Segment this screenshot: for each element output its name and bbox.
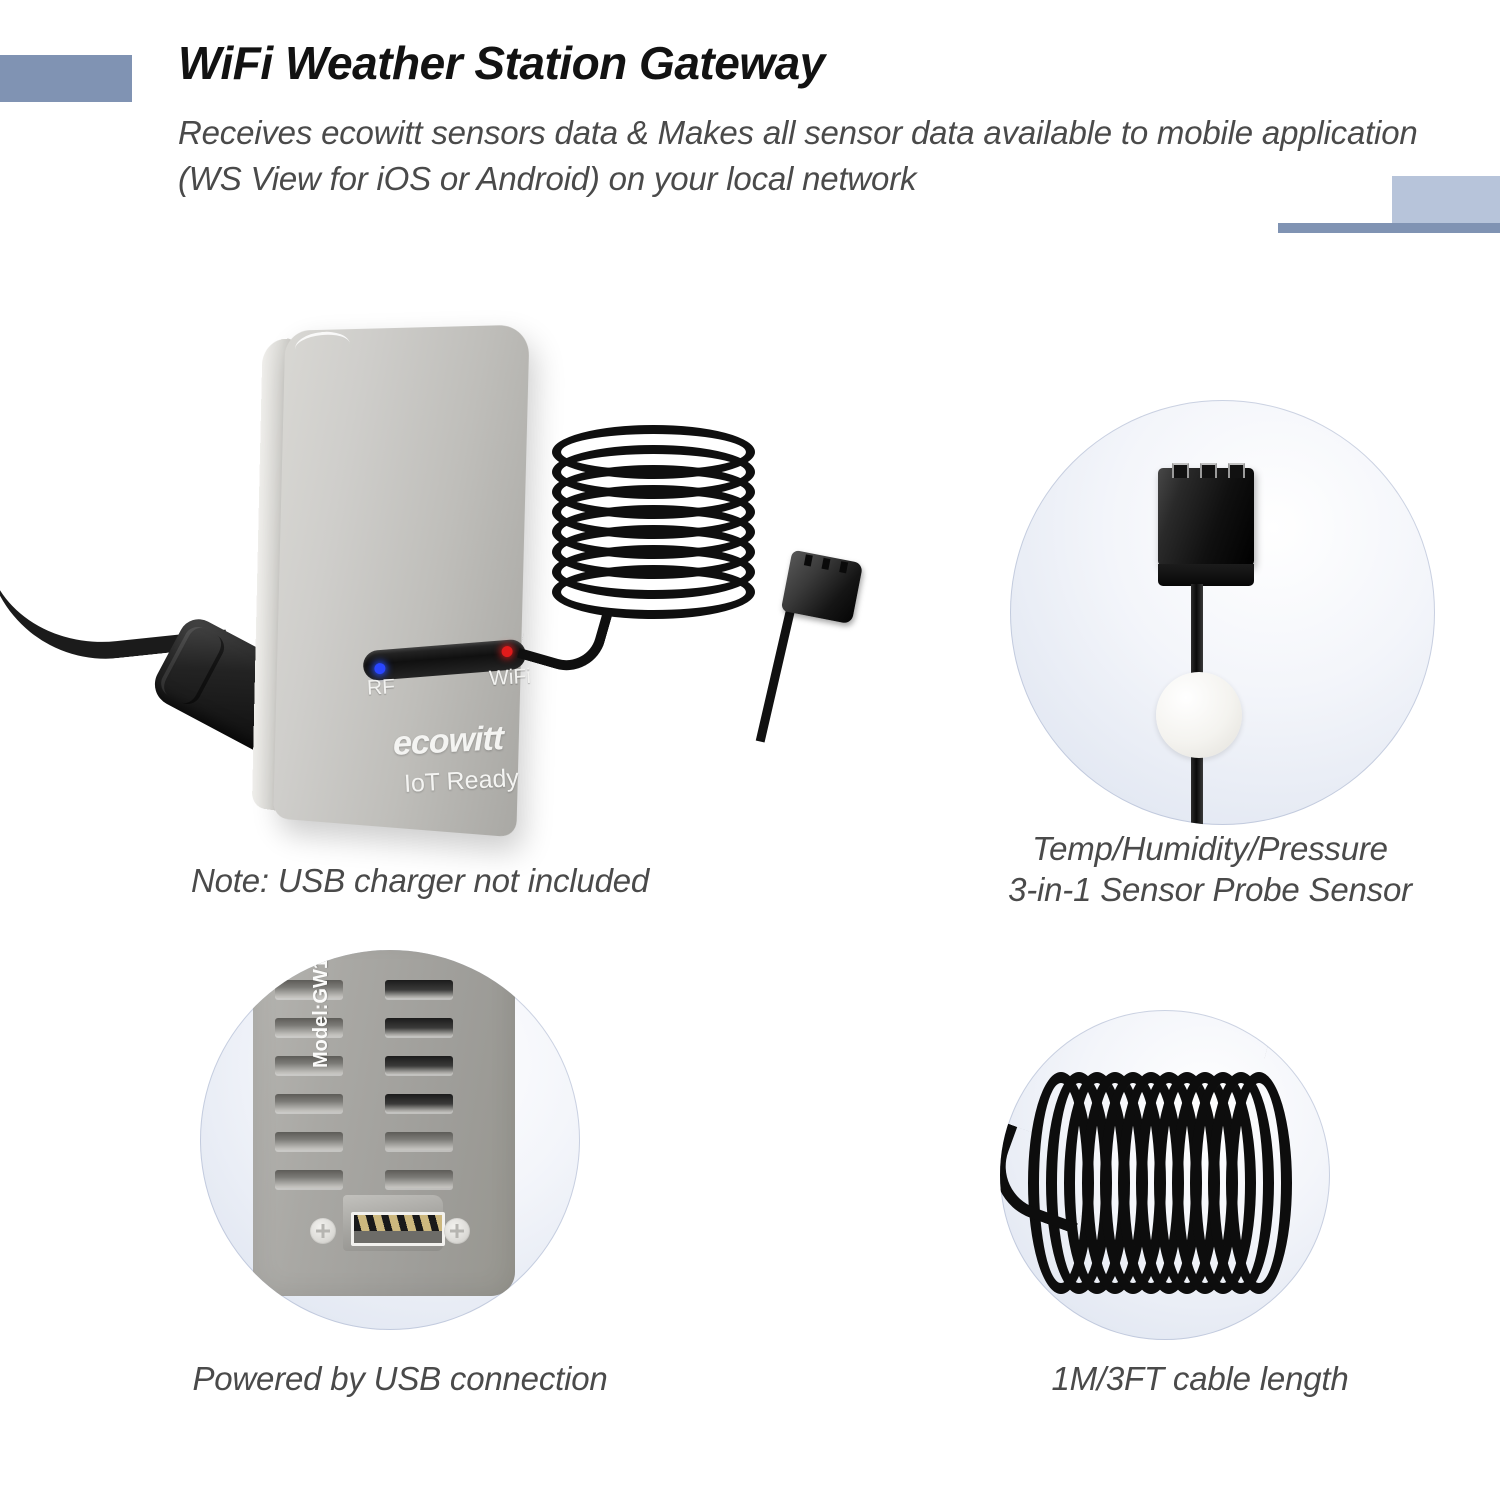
- feature-caption-sensor-line2: 3-in-1 Sensor Probe Sensor: [955, 869, 1465, 910]
- sensor-connector-neck: [1158, 564, 1254, 586]
- page-subtitle: Receives ecowitt sensors data & Makes al…: [178, 110, 1478, 201]
- coiled-cable: [1028, 1072, 1308, 1277]
- usb-contacts: [351, 1212, 445, 1246]
- feature-caption-usb-power: Powered by USB connection: [120, 1358, 680, 1399]
- hero-product-photo: RF WiFi ecowitt IoT Ready: [0, 270, 950, 860]
- sensor-probe-bead: [1156, 672, 1242, 758]
- page-title: WiFi Weather Station Gateway: [178, 38, 825, 89]
- screw-right-icon: [444, 1218, 470, 1244]
- feature-photo-sensor-probe: [1010, 400, 1435, 825]
- feature-photo-cable-coil: [1000, 1010, 1330, 1340]
- rf-led-icon: [374, 663, 386, 675]
- feature-caption-sensor-line1: Temp/Humidity/Pressure: [955, 828, 1465, 869]
- wifi-led-icon: [501, 646, 513, 658]
- hero-probe-wire: [756, 609, 795, 743]
- hero-caption: Note: USB charger not included: [100, 860, 740, 901]
- feature-photo-usb-power: Model:GW1200 Freq: 868MHz: [200, 950, 580, 1330]
- brand-tagline: IoT Ready: [403, 764, 519, 799]
- hero-coiled-cable: [552, 425, 757, 620]
- header-banner: WiFi Weather Station Gateway Receives ec…: [0, 0, 1500, 250]
- rf-led-label: RF: [366, 675, 395, 700]
- screw-left-icon: [310, 1218, 336, 1244]
- model-frequency-label: Model:GW1200 Freq: 868MHz: [310, 950, 333, 1068]
- feature-caption-sensor-probe: Temp/Humidity/Pressure 3-in-1 Sensor Pro…: [955, 828, 1465, 911]
- feature-caption-cable-length: 1M/3FT cable length: [1000, 1358, 1400, 1399]
- decor-bar-right: [1278, 223, 1500, 233]
- decor-bar-left: [0, 55, 132, 102]
- wifi-led-label: WiFi: [488, 665, 531, 691]
- sensor-connector-body: [1158, 468, 1254, 566]
- brand-logo-text: ecowitt: [393, 719, 504, 764]
- hero-probe-connector: [781, 550, 864, 625]
